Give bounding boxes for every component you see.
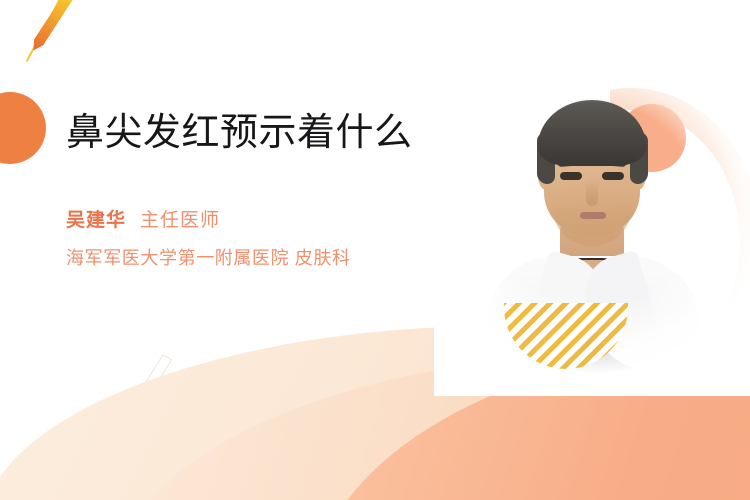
text-block: 鼻尖发红预示着什么 吴建华 主任医师 海军军医大学第一附属医院 皮肤科 — [66, 112, 426, 270]
diagonal-stripe-thick-decoration — [29, 0, 76, 53]
diagonal-stripe-thin-decoration — [26, 0, 64, 62]
doctor-name: 吴建华 — [66, 205, 126, 232]
page-title: 鼻尖发红预示着什么 — [66, 112, 426, 155]
orange-circle-decoration — [0, 92, 46, 164]
doctor-affiliation: 海军军医大学第一附属医院 皮肤科 — [66, 244, 426, 270]
doctor-title: 主任医师 — [140, 205, 220, 232]
video-cover-card: 鼻尖发红预示着什么 吴建华 主任医师 海军军医大学第一附属医院 皮肤科 — [0, 0, 750, 500]
byline: 吴建华 主任医师 — [66, 205, 426, 232]
doctor-portrait — [440, 60, 750, 390]
ghost-outline-bar-decoration — [143, 354, 172, 392]
